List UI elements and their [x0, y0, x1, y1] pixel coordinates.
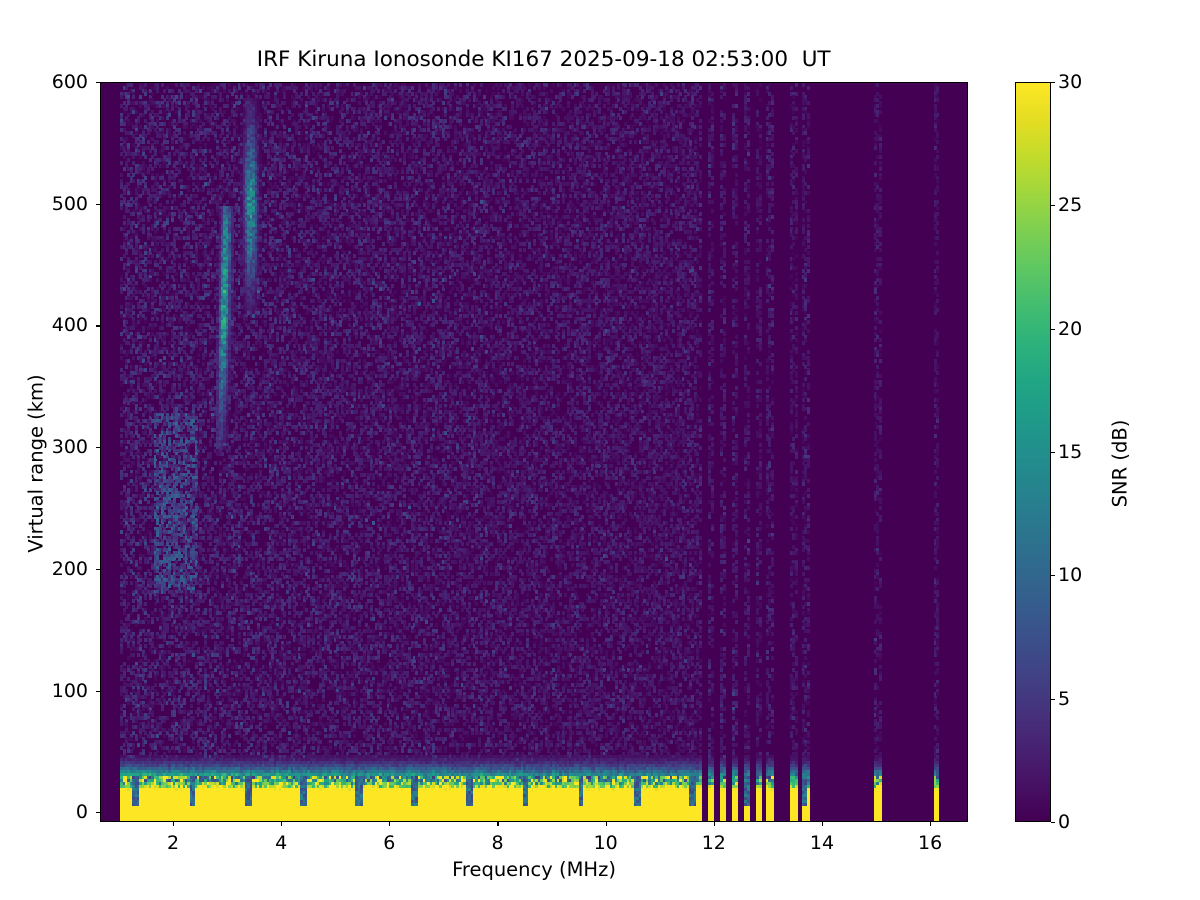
x-tick-mark	[281, 822, 282, 826]
figure-title-line1: IRF Kiruna Ionosonde KI167 2025-09-18 02…	[257, 47, 831, 72]
x-tick-label: 6	[364, 832, 414, 854]
x-tick-label: 12	[689, 832, 739, 854]
y-tick-label: 100	[32, 680, 88, 702]
x-tick-label: 2	[148, 832, 198, 854]
x-tick-label: 4	[256, 832, 306, 854]
colorbar-gradient-canvas	[1016, 83, 1050, 821]
y-tick-label: 400	[32, 314, 88, 336]
colorbar-tick-label: 10	[1058, 564, 1082, 586]
colorbar-tick-mark	[1051, 575, 1055, 576]
y-tick-mark	[96, 812, 100, 813]
colorbar-tick-label: 0	[1058, 811, 1070, 833]
colorbar-tick-mark	[1051, 205, 1055, 206]
x-tick-mark	[606, 822, 607, 826]
y-tick-label: 500	[32, 193, 88, 215]
x-tick-mark	[497, 822, 498, 826]
x-tick-mark	[822, 822, 823, 826]
colorbar-tick-mark	[1051, 452, 1055, 453]
x-tick-label: 8	[472, 832, 522, 854]
colorbar-tick-mark	[1051, 82, 1055, 83]
x-tick-mark	[389, 822, 390, 826]
x-tick-mark	[714, 822, 715, 826]
colorbar-label: SNR (dB)	[1109, 344, 1132, 584]
colorbar-tick-mark	[1051, 822, 1055, 823]
x-tick-mark	[930, 822, 931, 826]
y-tick-mark	[96, 447, 100, 448]
colorbar-tick-label: 20	[1058, 318, 1082, 340]
colorbar-tick-label: 25	[1058, 194, 1082, 216]
colorbar-tick-mark	[1051, 699, 1055, 700]
x-axis-label: Frequency (MHz)	[100, 858, 968, 881]
y-axis-label: Virtual range (km)	[25, 344, 48, 584]
y-tick-mark	[96, 204, 100, 205]
y-tick-mark	[96, 325, 100, 326]
colorbar-tick-label: 30	[1058, 71, 1082, 93]
colorbar-tick-mark	[1051, 329, 1055, 330]
y-tick-mark	[96, 691, 100, 692]
ionogram-plot-area[interactable]	[100, 82, 968, 822]
x-tick-mark	[173, 822, 174, 826]
y-tick-label: 0	[32, 801, 88, 823]
y-tick-mark	[96, 82, 100, 83]
colorbar-tick-label: 15	[1058, 441, 1082, 463]
x-tick-label: 10	[581, 832, 631, 854]
x-tick-label: 14	[797, 832, 847, 854]
colorbar-tick-label: 5	[1058, 688, 1070, 710]
y-tick-label: 600	[32, 71, 88, 93]
x-tick-label: 16	[905, 832, 955, 854]
ionogram-figure: IRF Kiruna Ionosonde KI167 2025-09-18 02…	[0, 0, 1200, 900]
y-tick-mark	[96, 569, 100, 570]
ionogram-heatmap-canvas	[101, 83, 967, 821]
colorbar	[1015, 82, 1051, 822]
